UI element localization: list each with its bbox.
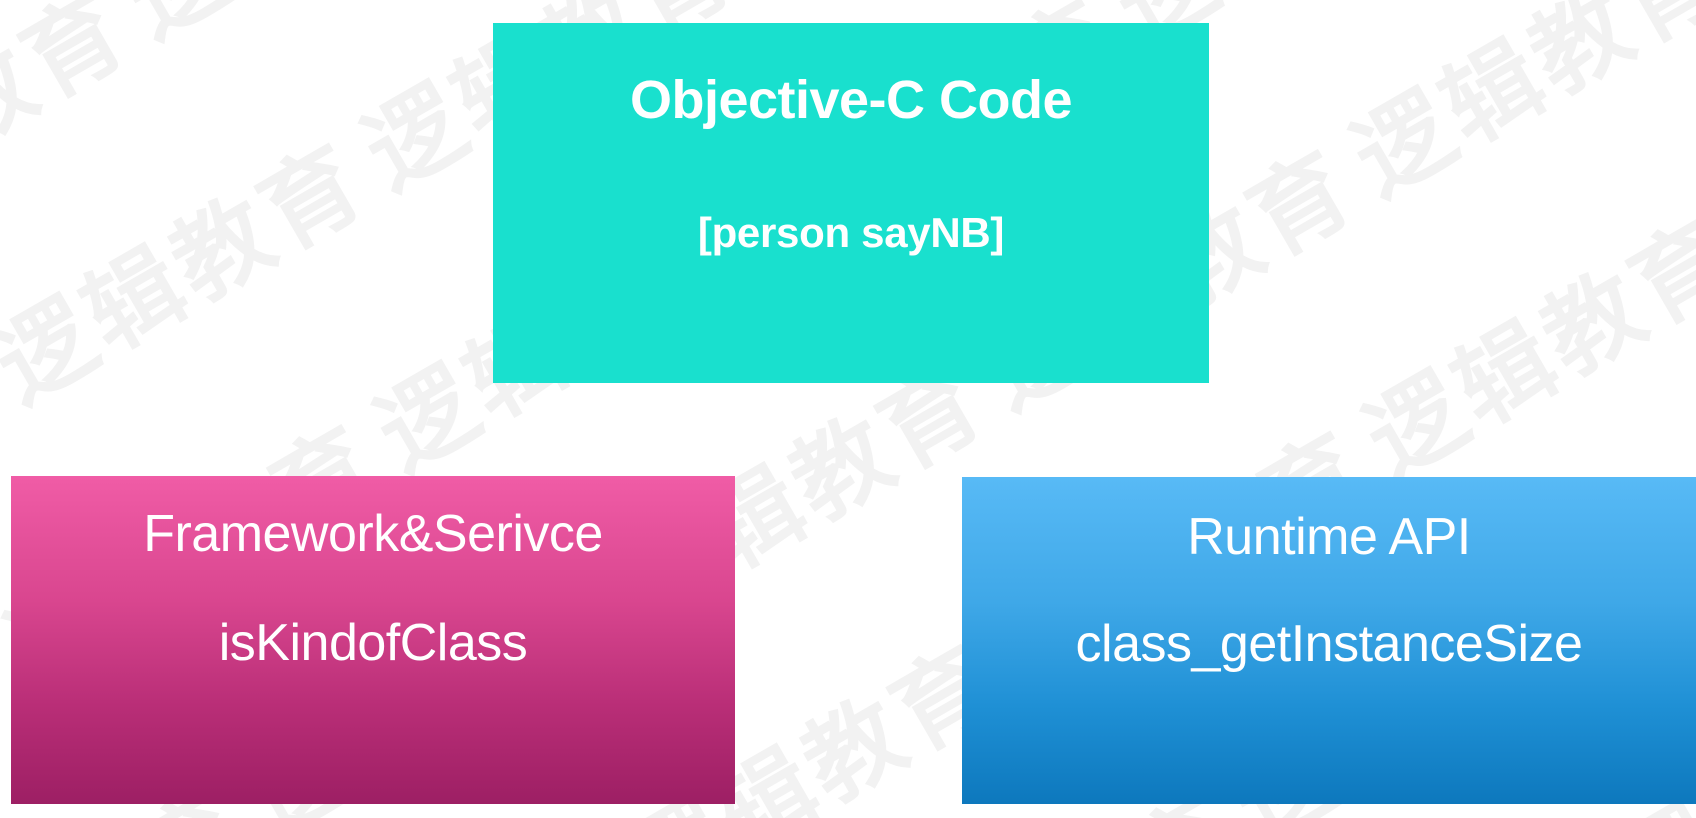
framework-service-subtitle: isKindofClass	[219, 615, 528, 672]
watermark-text: 逻辑教育	[0, 0, 144, 266]
objective-c-code-title: Objective-C Code	[630, 71, 1072, 130]
objective-c-code-box: Objective-C Code [person sayNB]	[493, 23, 1209, 383]
framework-service-title: Framework&Serivce	[143, 506, 603, 563]
runtime-api-box: Runtime API class_getInstanceSize	[962, 477, 1696, 804]
framework-service-box: Framework&Serivce isKindofClass	[11, 476, 735, 804]
objective-c-code-subtitle: [person sayNB]	[698, 210, 1004, 256]
watermark-text: 逻辑教育	[1339, 0, 1696, 210]
runtime-api-title: Runtime API	[1187, 509, 1471, 566]
runtime-api-subtitle: class_getInstanceSize	[1076, 616, 1583, 673]
watermark-text: 逻辑教育	[112, 0, 513, 52]
watermark-text: 逻辑教育	[0, 130, 381, 417]
watermark-text: 逻辑教育	[1351, 205, 1696, 492]
slide-canvas: 逻辑教育 逻辑教育 逻辑教育 逻辑教育 逻辑教育 逻辑教育 逻辑教育 逻辑教育 …	[0, 0, 1696, 818]
